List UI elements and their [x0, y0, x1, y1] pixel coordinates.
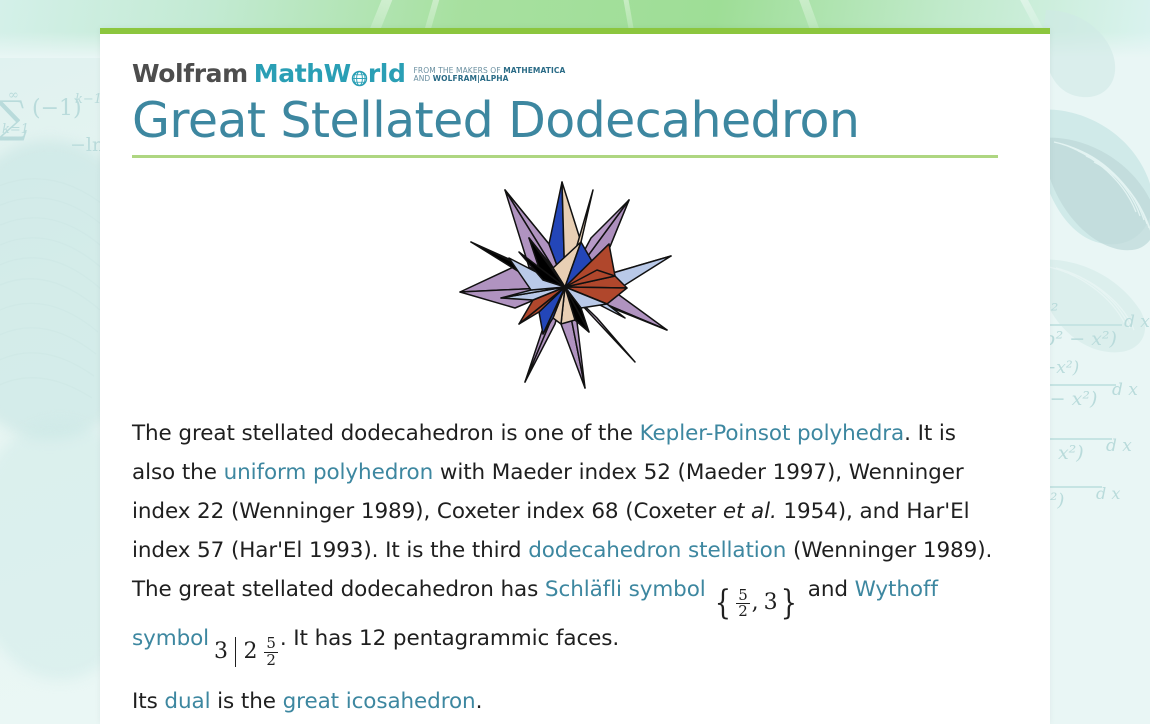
p1-text-7: . It has 12 pentagrammic faces. — [280, 626, 619, 651]
schlafli-comma: , — [752, 592, 759, 614]
article-body: The great stellated dodecahedron is one … — [132, 414, 1000, 721]
background-formula-dx-1: d x — [1124, 312, 1150, 332]
logo-tagline-line2: AND WOLFRAM|ALPHA — [413, 75, 565, 84]
wythoff-numerator: 5 — [264, 636, 277, 651]
schlafli-fraction: 52 — [734, 588, 751, 620]
link-uniform-polyhedron[interactable]: uniform polyhedron — [224, 460, 434, 485]
p2-text-3: . — [476, 689, 483, 714]
schlafli-denominator: 2 — [736, 603, 749, 619]
wythoff-second: 2 — [243, 641, 257, 663]
content-card: Wolfram MathW rld FROM THE MAKERS OF MAT… — [100, 28, 1050, 724]
paragraph-1: The great stellated dodecahedron is one … — [132, 414, 1000, 668]
background-formula-sum-lower: k=1 — [2, 122, 29, 137]
link-great-icosahedron[interactable]: great icosahedron — [283, 689, 476, 714]
logo-wolfram-text: Wolfram — [132, 61, 248, 86]
tagline-brand-wolframalpha: WOLFRAM|ALPHA — [433, 74, 509, 83]
logo-world-rest: rld — [368, 61, 406, 86]
background-formula-dx-4: d x — [1096, 484, 1120, 503]
wythoff-bar — [235, 637, 237, 667]
schlafli-second-value: 3 — [764, 592, 778, 614]
logo-mathworld-text: MathW rld — [254, 61, 406, 86]
p1-italic-etal: et al. — [723, 499, 777, 524]
background-formula-dx-3: d x — [1106, 436, 1132, 456]
globe-icon — [351, 66, 368, 83]
tagline-prefix-2: AND — [413, 74, 432, 83]
logo-math-part: Math — [254, 61, 324, 86]
link-dual[interactable]: dual — [164, 689, 210, 714]
link-schlafli-symbol[interactable]: Schläfli symbol — [545, 577, 706, 602]
background-formula-sum-upper: ∞ — [8, 88, 19, 103]
tagline-brand-mathematica: MATHEMATICA — [503, 66, 565, 75]
page-title: Great Stellated Dodecahedron — [132, 94, 996, 149]
link-dodecahedron-stellation[interactable]: dodecahedron stellation — [528, 538, 786, 563]
background-formula-dx-2: d x — [1112, 380, 1138, 400]
wythoff-symbol-math: 3252 — [209, 636, 280, 668]
logo-tagline: FROM THE MAKERS OF MATHEMATICA AND WOLFR… — [411, 67, 565, 86]
p2-text-1: Its — [132, 689, 164, 714]
schlafli-symbol-math: {52,3} — [706, 588, 801, 620]
p2-text-2: is the — [210, 689, 282, 714]
schlafli-numerator: 5 — [736, 588, 749, 603]
background-formula-exponent: k−1 — [75, 92, 102, 107]
wythoff-denominator: 2 — [264, 652, 277, 668]
paragraph-2: Its dual is the great icosahedron. — [132, 682, 1000, 721]
p1-text-6: and — [801, 577, 855, 602]
wythoff-fraction: 52 — [262, 636, 279, 668]
schlafli-open-brace: { — [714, 590, 732, 617]
site-logo[interactable]: Wolfram MathW rld FROM THE MAKERS OF MAT… — [132, 56, 996, 86]
logo-world-w: W — [324, 61, 351, 86]
great-stellated-dodecahedron-illustration — [457, 172, 672, 394]
schlafli-close-brace: } — [780, 590, 798, 617]
title-underline-rule — [132, 155, 998, 158]
polyhedron-figure — [132, 172, 996, 404]
p1-text-1: The great stellated dodecahedron is one … — [132, 421, 640, 446]
wythoff-first: 3 — [214, 641, 228, 663]
link-kepler-poinsot-polyhedra[interactable]: Kepler-Poinsot polyhedra — [640, 421, 905, 446]
